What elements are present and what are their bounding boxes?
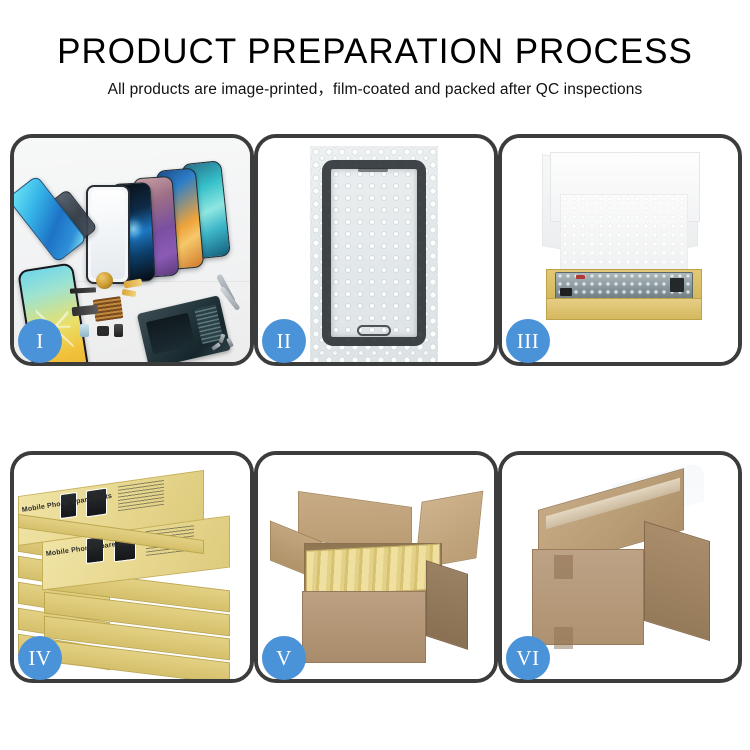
carton-side-face [426, 560, 468, 650]
screen-chip-icon [560, 288, 572, 296]
screen-bezel [322, 160, 426, 346]
page-subtitle: All products are image-printed，film-coat… [0, 80, 750, 100]
process-step-grid: I II [10, 134, 741, 682]
box-tray-front [546, 298, 702, 320]
step-badge-2: II [262, 319, 306, 363]
step-badge-4: IV [18, 636, 62, 680]
step-badge-1: I [18, 319, 62, 363]
carton-side-face [644, 521, 710, 641]
carton-hand-slot-lower [554, 627, 573, 649]
process-step-2: II [254, 134, 498, 366]
step-badge-5: V [262, 636, 306, 680]
home-button-icon [357, 325, 391, 336]
kraft-boxes-inside [306, 543, 440, 596]
carton-hand-slot-upper [554, 555, 573, 579]
small-part-icon-b [97, 326, 109, 336]
process-step-5: V [254, 451, 498, 683]
process-step-3: III [498, 134, 742, 366]
step-badge-6: VI [506, 636, 550, 680]
carton-front-face [532, 549, 644, 645]
screen-connector-icon [670, 278, 684, 292]
foam-padding [560, 194, 688, 272]
earpiece-slot-icon [358, 168, 388, 172]
step-badge-3: III [506, 319, 550, 363]
screen-red-mark-icon [576, 275, 585, 279]
speaker-module-icon [96, 272, 113, 289]
process-step-1: I [10, 134, 254, 366]
process-step-4: Mobile Phone Spare Parts Mobile Phone Sp… [10, 451, 254, 683]
process-step-6: VI [498, 451, 742, 683]
glass-screen-protector-icon [86, 185, 130, 284]
page-header: PRODUCT PREPARATION PROCESS All products… [0, 0, 750, 100]
page-title: PRODUCT PREPARATION PROCESS [0, 33, 750, 71]
carton-front-face [302, 591, 426, 663]
small-part-icon-c [114, 324, 123, 337]
small-part-icon-a [80, 324, 89, 337]
